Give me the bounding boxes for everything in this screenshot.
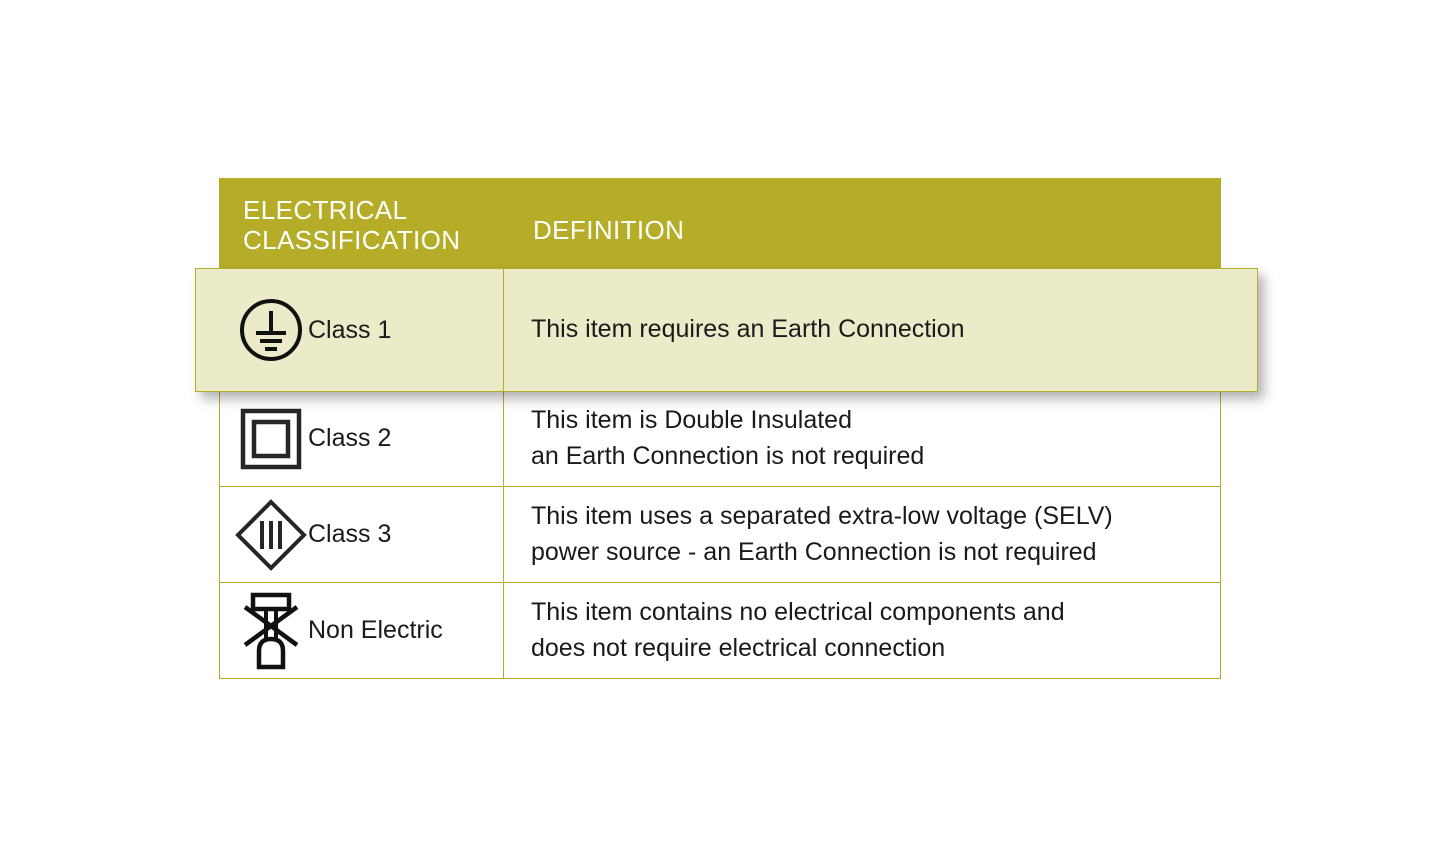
classification-label: Class 1	[308, 318, 391, 343]
column-header-electrical-classification: ELECTRICAL CLASSIFICATION	[219, 178, 505, 268]
classification-label: Class 3	[308, 522, 391, 547]
classification-label: Non Electric	[308, 618, 443, 643]
non-electric-plug-crossed-icon	[234, 594, 308, 668]
slide-canvas: ELECTRICAL CLASSIFICATION DEFINITION	[0, 0, 1445, 860]
column-header-definition: DEFINITION	[505, 178, 1221, 268]
cell-definition: This item requires an Earth Connection	[504, 269, 1257, 391]
cell-classification: Non Electric	[220, 583, 504, 678]
definition-text: This item contains no electrical compone…	[531, 595, 1065, 666]
definition-text: This item requires an Earth Connection	[531, 312, 965, 348]
diamond-three-bars-icon	[234, 498, 308, 572]
table-header-row: ELECTRICAL CLASSIFICATION DEFINITION	[219, 178, 1221, 268]
cell-classification: Class 3	[220, 487, 504, 582]
definition-text: This item is Double Insulated an Earth C…	[531, 403, 924, 474]
table-row[interactable]: Class 2 This item is Double Insulated an…	[220, 390, 1220, 486]
electrical-classification-table: ELECTRICAL CLASSIFICATION DEFINITION	[219, 178, 1221, 679]
table-row[interactable]: Non Electric This item contains no elect…	[220, 582, 1220, 678]
definition-text: This item uses a separated extra-low vol…	[531, 499, 1113, 570]
double-square-insulation-icon	[234, 402, 308, 476]
column-header-line-2: CLASSIFICATION	[243, 226, 505, 256]
cell-classification: Class 2	[220, 391, 504, 486]
column-header-line-1: ELECTRICAL	[243, 196, 505, 226]
cell-definition: This item contains no electrical compone…	[504, 583, 1220, 678]
cell-definition: This item uses a separated extra-low vol…	[504, 487, 1220, 582]
table-row-highlighted[interactable]: Class 1 This item requires an Earth Conn…	[195, 268, 1258, 392]
earth-ground-circle-icon	[234, 293, 308, 367]
table-row[interactable]: Class 3 This item uses a separated extra…	[220, 486, 1220, 582]
cell-definition: This item is Double Insulated an Earth C…	[504, 391, 1220, 486]
cell-classification: Class 1	[196, 269, 504, 391]
classification-label: Class 2	[308, 426, 391, 451]
